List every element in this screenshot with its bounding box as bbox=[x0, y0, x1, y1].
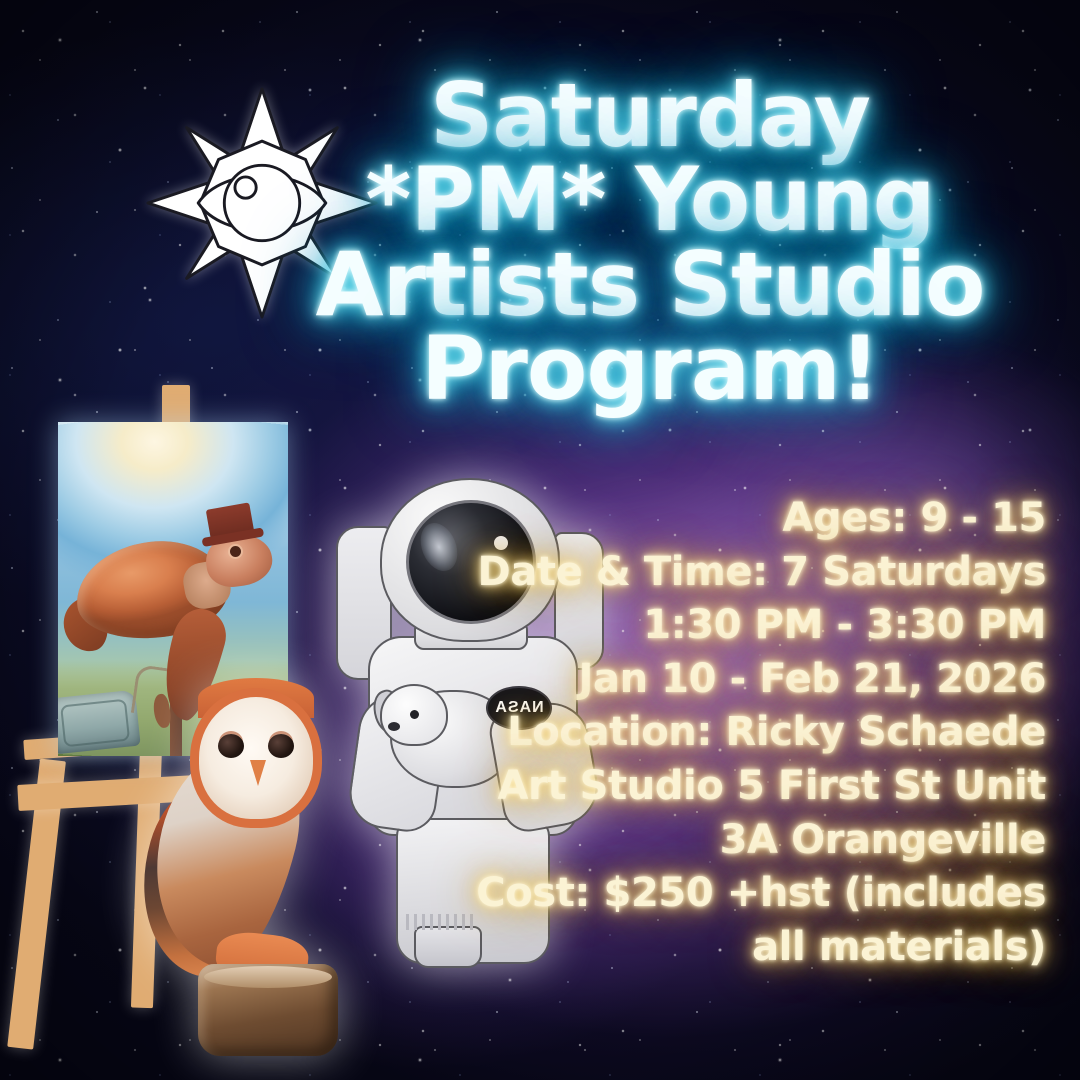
detail-location-2: Art Studio 5 First St Unit bbox=[466, 760, 1046, 814]
detail-date-time: Date & Time: 7 Saturdays bbox=[466, 546, 1046, 600]
owl-sculpture bbox=[140, 676, 390, 1036]
program-details: Ages: 9 - 15 Date & Time: 7 Saturdays 1:… bbox=[466, 492, 1046, 974]
detail-cost-2: all materials) bbox=[466, 921, 1046, 975]
puppy-eye bbox=[410, 710, 419, 719]
poster-canvas: NASA Saturday *PM* Young Artists Studio … bbox=[0, 0, 1080, 1080]
detail-location-1: Location: Ricky Schaede bbox=[466, 706, 1046, 760]
detail-cost-1: Cost: $250 +hst (includes bbox=[466, 867, 1046, 921]
painting-sunken-object bbox=[58, 690, 141, 755]
title-line-1: Saturday bbox=[300, 74, 1000, 158]
detail-ages: Ages: 9 - 15 bbox=[466, 492, 1046, 546]
title-line-2: *PM* Young bbox=[300, 158, 1000, 242]
owl-facial-disc-ring bbox=[190, 688, 322, 828]
poster-title: Saturday *PM* Young Artists Studio Progr… bbox=[300, 74, 1000, 412]
title-line-3: Artists Studio bbox=[300, 243, 1000, 327]
detail-hours: 1:30 PM - 3:30 PM bbox=[466, 599, 1046, 653]
title-line-4: Program! bbox=[300, 327, 1000, 411]
detail-date-range: Jan 10 - Feb 21, 2026 bbox=[466, 653, 1046, 707]
owl-wooden-stump bbox=[198, 964, 338, 1056]
detail-location-3: 3A Orangeville bbox=[466, 814, 1046, 868]
turtle-eye bbox=[230, 546, 241, 557]
owl-eye-right bbox=[268, 734, 294, 758]
turtle-top-hat bbox=[206, 502, 255, 539]
owl-eye-left bbox=[218, 734, 244, 758]
